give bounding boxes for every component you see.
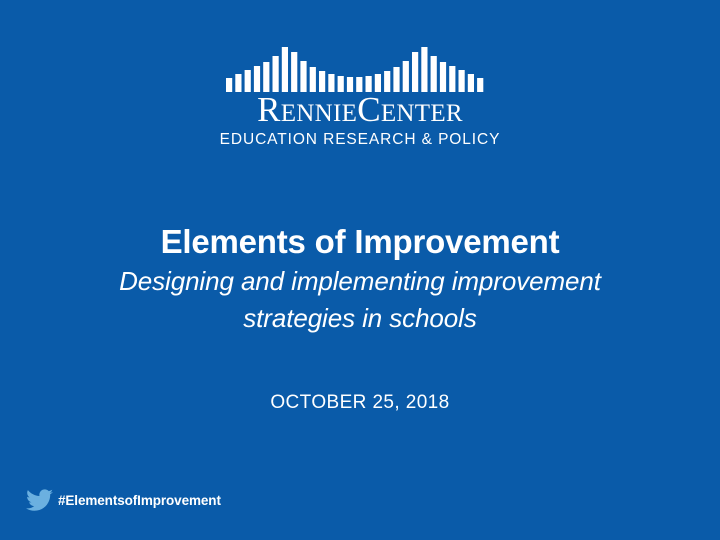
twitter-hashtag-block: #ElementsofImprovement xyxy=(26,489,221,512)
twitter-bird-icon xyxy=(26,489,53,512)
hashtag-label: #ElementsofImprovement xyxy=(58,493,221,508)
rennie-center-logo: RennieCenter EDUCATION RESEARCH & POLICY xyxy=(0,44,720,149)
page-subtitle-line-2: strategies in schools xyxy=(0,300,720,337)
presentation-date: OCTOBER 25, 2018 xyxy=(0,392,720,414)
page-subtitle: Designing and implementing improvement s… xyxy=(0,263,720,337)
logo-wordmark: RennieCenter xyxy=(257,93,463,127)
logo-wordmark-rennie: Rennie xyxy=(257,90,357,129)
logo-tagline: EDUCATION RESEARCH & POLICY xyxy=(220,131,501,149)
title-block: Elements of Improvement Designing and im… xyxy=(0,222,720,337)
page-subtitle-line-1: Designing and implementing improvement xyxy=(0,263,720,300)
skyline-icon xyxy=(226,44,494,92)
page-title: Elements of Improvement xyxy=(0,222,720,262)
presentation-slide: RennieCenter EDUCATION RESEARCH & POLICY… xyxy=(0,0,720,540)
logo-wordmark-center: Center xyxy=(357,90,463,129)
